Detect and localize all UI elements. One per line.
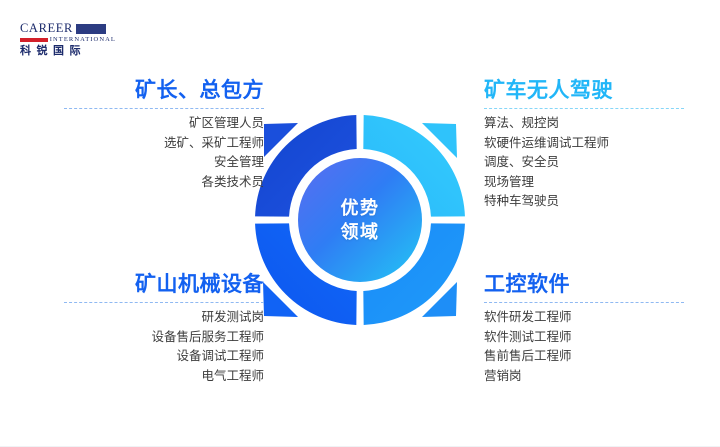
title-divider	[484, 108, 684, 109]
category-title: 工控软件	[484, 272, 684, 298]
list-item: 软件研发工程师	[484, 308, 684, 328]
list-item: 安全管理	[64, 153, 264, 173]
list-item: 营销岗	[484, 367, 684, 387]
logo-brand-en: CAREER	[20, 22, 73, 35]
list-item: 电气工程师	[64, 367, 264, 387]
list-item: 选矿、采矿工程师	[64, 134, 264, 154]
list-item: 现场管理	[484, 173, 684, 193]
title-divider	[484, 302, 684, 303]
list-item: 软硬件运维调试工程师	[484, 134, 684, 154]
logo-top-row: CAREER	[20, 22, 116, 35]
title-divider	[64, 108, 264, 109]
category-role-list: 研发测试岗 设备售后服务工程师 设备调试工程师 电气工程师	[64, 308, 264, 386]
category-role-list: 算法、规控岗 软硬件运维调试工程师 调度、安全员 现场管理 特种车驾驶员	[484, 114, 684, 212]
list-item: 矿区管理人员	[64, 114, 264, 134]
category-block-industrial-control-software: 工控软件 软件研发工程师 软件测试工程师 售前售后工程师 营销岗	[484, 272, 684, 386]
list-item: 设备调试工程师	[64, 347, 264, 367]
category-block-mine-owner: 矿长、总包方 矿区管理人员 选矿、采矿工程师 安全管理 各类技术员	[64, 78, 264, 192]
logo-navy-block	[76, 24, 106, 34]
logo-brand-sub: INTERNATIONAL	[50, 36, 116, 43]
category-title: 矿车无人驾驶	[484, 78, 684, 104]
logo-red-bar	[20, 38, 48, 42]
list-item: 算法、规控岗	[484, 114, 684, 134]
title-divider	[64, 302, 264, 303]
slide-canvas: CAREER INTERNATIONAL 科锐国际	[0, 0, 720, 447]
list-item: 设备售后服务工程师	[64, 328, 264, 348]
list-item: 售前售后工程师	[484, 347, 684, 367]
category-role-list: 软件研发工程师 软件测试工程师 售前售后工程师 营销岗	[484, 308, 684, 386]
list-item: 研发测试岗	[64, 308, 264, 328]
category-title: 矿长、总包方	[64, 78, 264, 104]
category-block-mining-machinery: 矿山机械设备 研发测试岗 设备售后服务工程师 设备调试工程师 电气工程师	[64, 272, 264, 386]
logo-second-row: INTERNATIONAL	[20, 36, 116, 43]
logo-brand-cn: 科锐国际	[20, 45, 116, 58]
list-item: 调度、安全员	[484, 153, 684, 173]
advantage-donut-graphic: 优势 领域	[252, 112, 468, 328]
category-title: 矿山机械设备	[64, 272, 264, 298]
list-item: 特种车驾驶员	[484, 192, 684, 212]
donut-svg	[252, 112, 468, 328]
list-item: 各类技术员	[64, 173, 264, 193]
category-role-list: 矿区管理人员 选矿、采矿工程师 安全管理 各类技术员	[64, 114, 264, 192]
donut-core-circle	[298, 158, 422, 282]
company-logo: CAREER INTERNATIONAL 科锐国际	[20, 22, 116, 58]
category-block-autonomous-mining-truck: 矿车无人驾驶 算法、规控岗 软硬件运维调试工程师 调度、安全员 现场管理 特种车…	[484, 78, 684, 212]
list-item: 软件测试工程师	[484, 328, 684, 348]
